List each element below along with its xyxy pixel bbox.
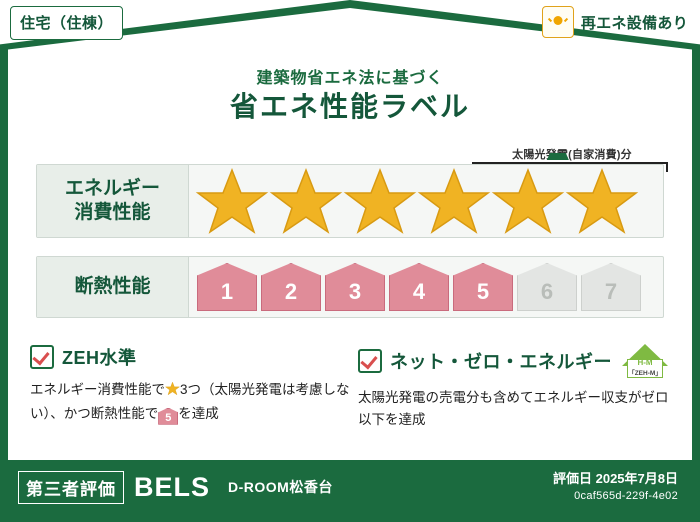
net-zero-criteria-block: ネット・ゼロ・エネルギー H-M 「ZEH-M」 太陽光発電の売電分も含めてエネ… bbox=[358, 344, 678, 430]
energy-performance-label: 住宅（住棟） 再エネ設備あり 建築物省エネ法に基づく 省エネ性能ラベル 太陽光発… bbox=[0, 0, 700, 522]
energy-performance-row: エネルギー 消費性能 bbox=[36, 164, 664, 238]
insulation-level-4: 4 bbox=[389, 263, 449, 311]
net-zero-criteria-text: 太陽光発電の売電分も含めてエネルギー収支がゼロ以下を達成 bbox=[358, 387, 678, 430]
insulation-performance-row: 断熱性能 1 2 3 4 5 6 7 bbox=[36, 256, 664, 318]
zeh-criteria-block: ZEH水準 エネルギー消費性能で3つ（太陽光発電は考慮しない）、かつ断熱性能で5… bbox=[30, 344, 350, 425]
renewable-energy-badge: 再エネ設備あり bbox=[542, 6, 688, 38]
footer-right: 評価日 2025年7月8日 0caf565d-229f-4e02 bbox=[553, 468, 678, 502]
zeh-criteria-header: ZEH水準 bbox=[30, 344, 350, 370]
check-icon-zeh bbox=[30, 345, 54, 369]
property-name: D-ROOM松香台 bbox=[228, 477, 333, 497]
energy-row-label: エネルギー 消費性能 bbox=[37, 165, 189, 237]
zeh-text-part3: を達成 bbox=[178, 406, 219, 421]
insulation-level-7: 7 bbox=[581, 263, 641, 311]
star-icon-2 bbox=[269, 166, 343, 236]
solar-bracket-note: 太陽光発電(自家消費)分 bbox=[472, 146, 672, 162]
third-party-eval-badge: 第三者評価 bbox=[18, 471, 124, 504]
net-zero-criteria-header: ネット・ゼロ・エネルギー H-M 「ZEH-M」 bbox=[358, 344, 678, 378]
star-icon-3 bbox=[343, 166, 417, 236]
star-rating bbox=[189, 166, 639, 236]
insulation-level-2: 2 bbox=[261, 263, 321, 311]
check-icon-net-zero bbox=[358, 349, 382, 373]
insulation-row-label: 断熱性能 bbox=[37, 257, 189, 317]
energy-row-label-line1: エネルギー bbox=[65, 177, 160, 201]
energy-row-label-line2: 消費性能 bbox=[74, 201, 150, 225]
zeh-m-mark-icon: H-M 「ZEH-M」 bbox=[622, 344, 668, 378]
insulation-level-6: 6 bbox=[517, 263, 577, 311]
zeh-mark-sub: 「ZEH-M」 bbox=[622, 367, 668, 377]
bels-logo: BELS bbox=[134, 472, 210, 503]
star-icon-6 bbox=[565, 166, 639, 236]
solar-panel-icon bbox=[542, 6, 574, 38]
zeh-criteria-text: エネルギー消費性能で3つ（太陽光発電は考慮しない）、かつ断熱性能で5を達成 bbox=[30, 379, 350, 425]
zeh-criteria-title: ZEH水準 bbox=[62, 344, 137, 370]
insulation-level-5: 5 bbox=[453, 263, 513, 311]
zeh-text-part1: エネルギー消費性能で bbox=[30, 382, 165, 397]
inline-insulation-level: 5 bbox=[158, 408, 178, 425]
building-type-badge: 住宅（住棟） bbox=[10, 6, 123, 40]
footer-bar: 第三者評価 BELS D-ROOM松香台 評価日 2025年7月8日 0caf5… bbox=[8, 460, 692, 514]
footer-left: 第三者評価 BELS D-ROOM松香台 bbox=[8, 471, 333, 504]
star-icon-1 bbox=[195, 166, 269, 236]
renewable-badge-label: 再エネ設備あり bbox=[581, 12, 688, 33]
star-icon-5 bbox=[491, 166, 565, 236]
label-title: 省エネ性能ラベル bbox=[0, 85, 700, 125]
zeh-mark-main: H-M bbox=[622, 358, 668, 367]
evaluation-date: 評価日 2025年7月8日 bbox=[553, 468, 678, 487]
energy-row-body bbox=[189, 165, 663, 237]
net-zero-criteria-title: ネット・ゼロ・エネルギー bbox=[390, 348, 612, 374]
insulation-level-1: 1 bbox=[197, 263, 257, 311]
certificate-id: 0caf565d-229f-4e02 bbox=[553, 490, 678, 502]
performance-panel: 太陽光発電(自家消費)分 エネルギー 消費性能 断熱性能 bbox=[36, 146, 664, 324]
insulation-level-3: 3 bbox=[325, 263, 385, 311]
zeh-star-count: 3つ bbox=[180, 382, 201, 397]
insulation-row-body: 1 2 3 4 5 6 7 bbox=[189, 257, 663, 317]
inline-star-icon bbox=[165, 381, 180, 403]
insulation-levels: 1 2 3 4 5 6 7 bbox=[189, 263, 641, 311]
star-icon-4 bbox=[417, 166, 491, 236]
